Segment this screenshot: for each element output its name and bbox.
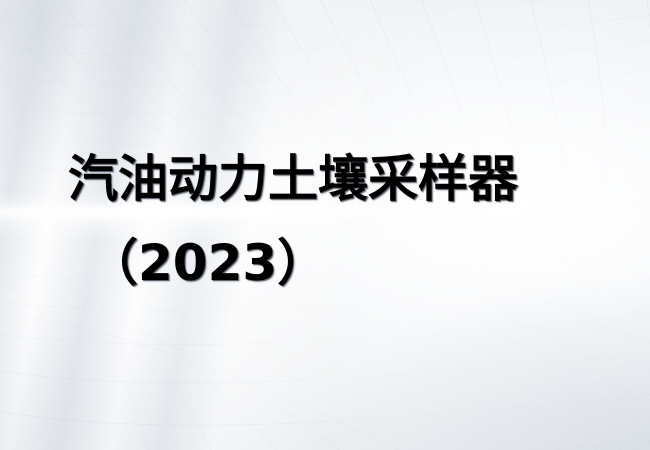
page-subtitle-year: （2023） xyxy=(88,232,327,294)
title-text-block: 汽油动力土壤采样器 （2023） xyxy=(0,0,650,450)
title-slide: 汽油动力土壤采样器 （2023） xyxy=(0,0,650,450)
page-title: 汽油动力土壤采样器 xyxy=(68,148,518,210)
